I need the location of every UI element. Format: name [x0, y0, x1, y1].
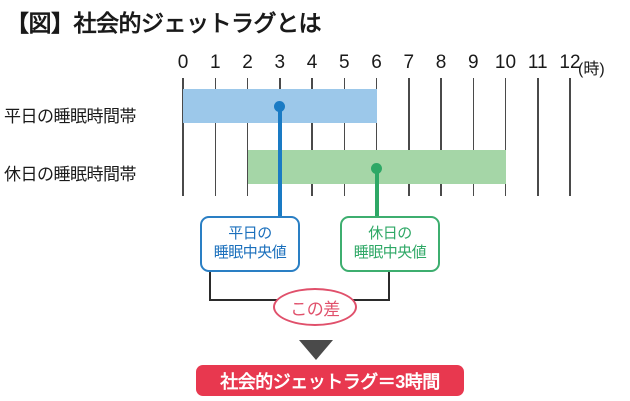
callout-weekday-median: 平日の 睡眠中央値 — [200, 216, 300, 272]
page-title: 【図】社会的ジェットラグとは — [6, 4, 321, 38]
axis-tick-label-10: 10 — [491, 52, 521, 74]
callout-weekday-line2: 睡眠中央値 — [214, 244, 287, 263]
gridline-11 — [537, 78, 539, 196]
axis-tick-label-1: 1 — [200, 52, 230, 74]
bracket-left-leg — [209, 272, 211, 300]
axis-tick-label-5: 5 — [329, 52, 359, 74]
axis-tick-label-3: 3 — [265, 52, 295, 74]
axis-tick-label-8: 8 — [426, 52, 456, 74]
axis-tick-label-4: 4 — [297, 52, 327, 74]
row-label-weekday: 平日の睡眠時間帯 — [4, 102, 136, 127]
callout-holiday-line2: 睡眠中央値 — [354, 244, 427, 263]
gridline-12 — [569, 78, 571, 196]
result-banner: 社会的ジェットラグ＝3時間 — [196, 365, 464, 396]
social-jetlag-figure: 【図】社会的ジェットラグとは 0123456789101112 (時) 平日の睡… — [0, 0, 630, 401]
axis-tick-label-9: 9 — [458, 52, 488, 74]
axis-tick-label-2: 2 — [233, 52, 263, 74]
median-stem-weekday — [278, 104, 282, 216]
callout-holiday-line1: 休日の — [368, 225, 412, 244]
axis-tick-label-11: 11 — [523, 52, 553, 74]
down-arrow-icon — [299, 340, 333, 360]
axis-tick-label-0: 0 — [168, 52, 198, 74]
axis-tick-label-7: 7 — [394, 52, 424, 74]
row-label-holiday: 休日の睡眠時間帯 — [4, 160, 136, 185]
callout-weekday-line1: 平日の — [228, 225, 272, 244]
axis-unit-label: (時) — [578, 55, 605, 79]
difference-callout: この差 — [273, 288, 357, 326]
median-dot-holiday — [371, 163, 382, 174]
callout-holiday-median: 休日の 睡眠中央値 — [340, 216, 440, 272]
bracket-right-leg — [388, 272, 390, 300]
axis-tick-label-6: 6 — [362, 52, 392, 74]
